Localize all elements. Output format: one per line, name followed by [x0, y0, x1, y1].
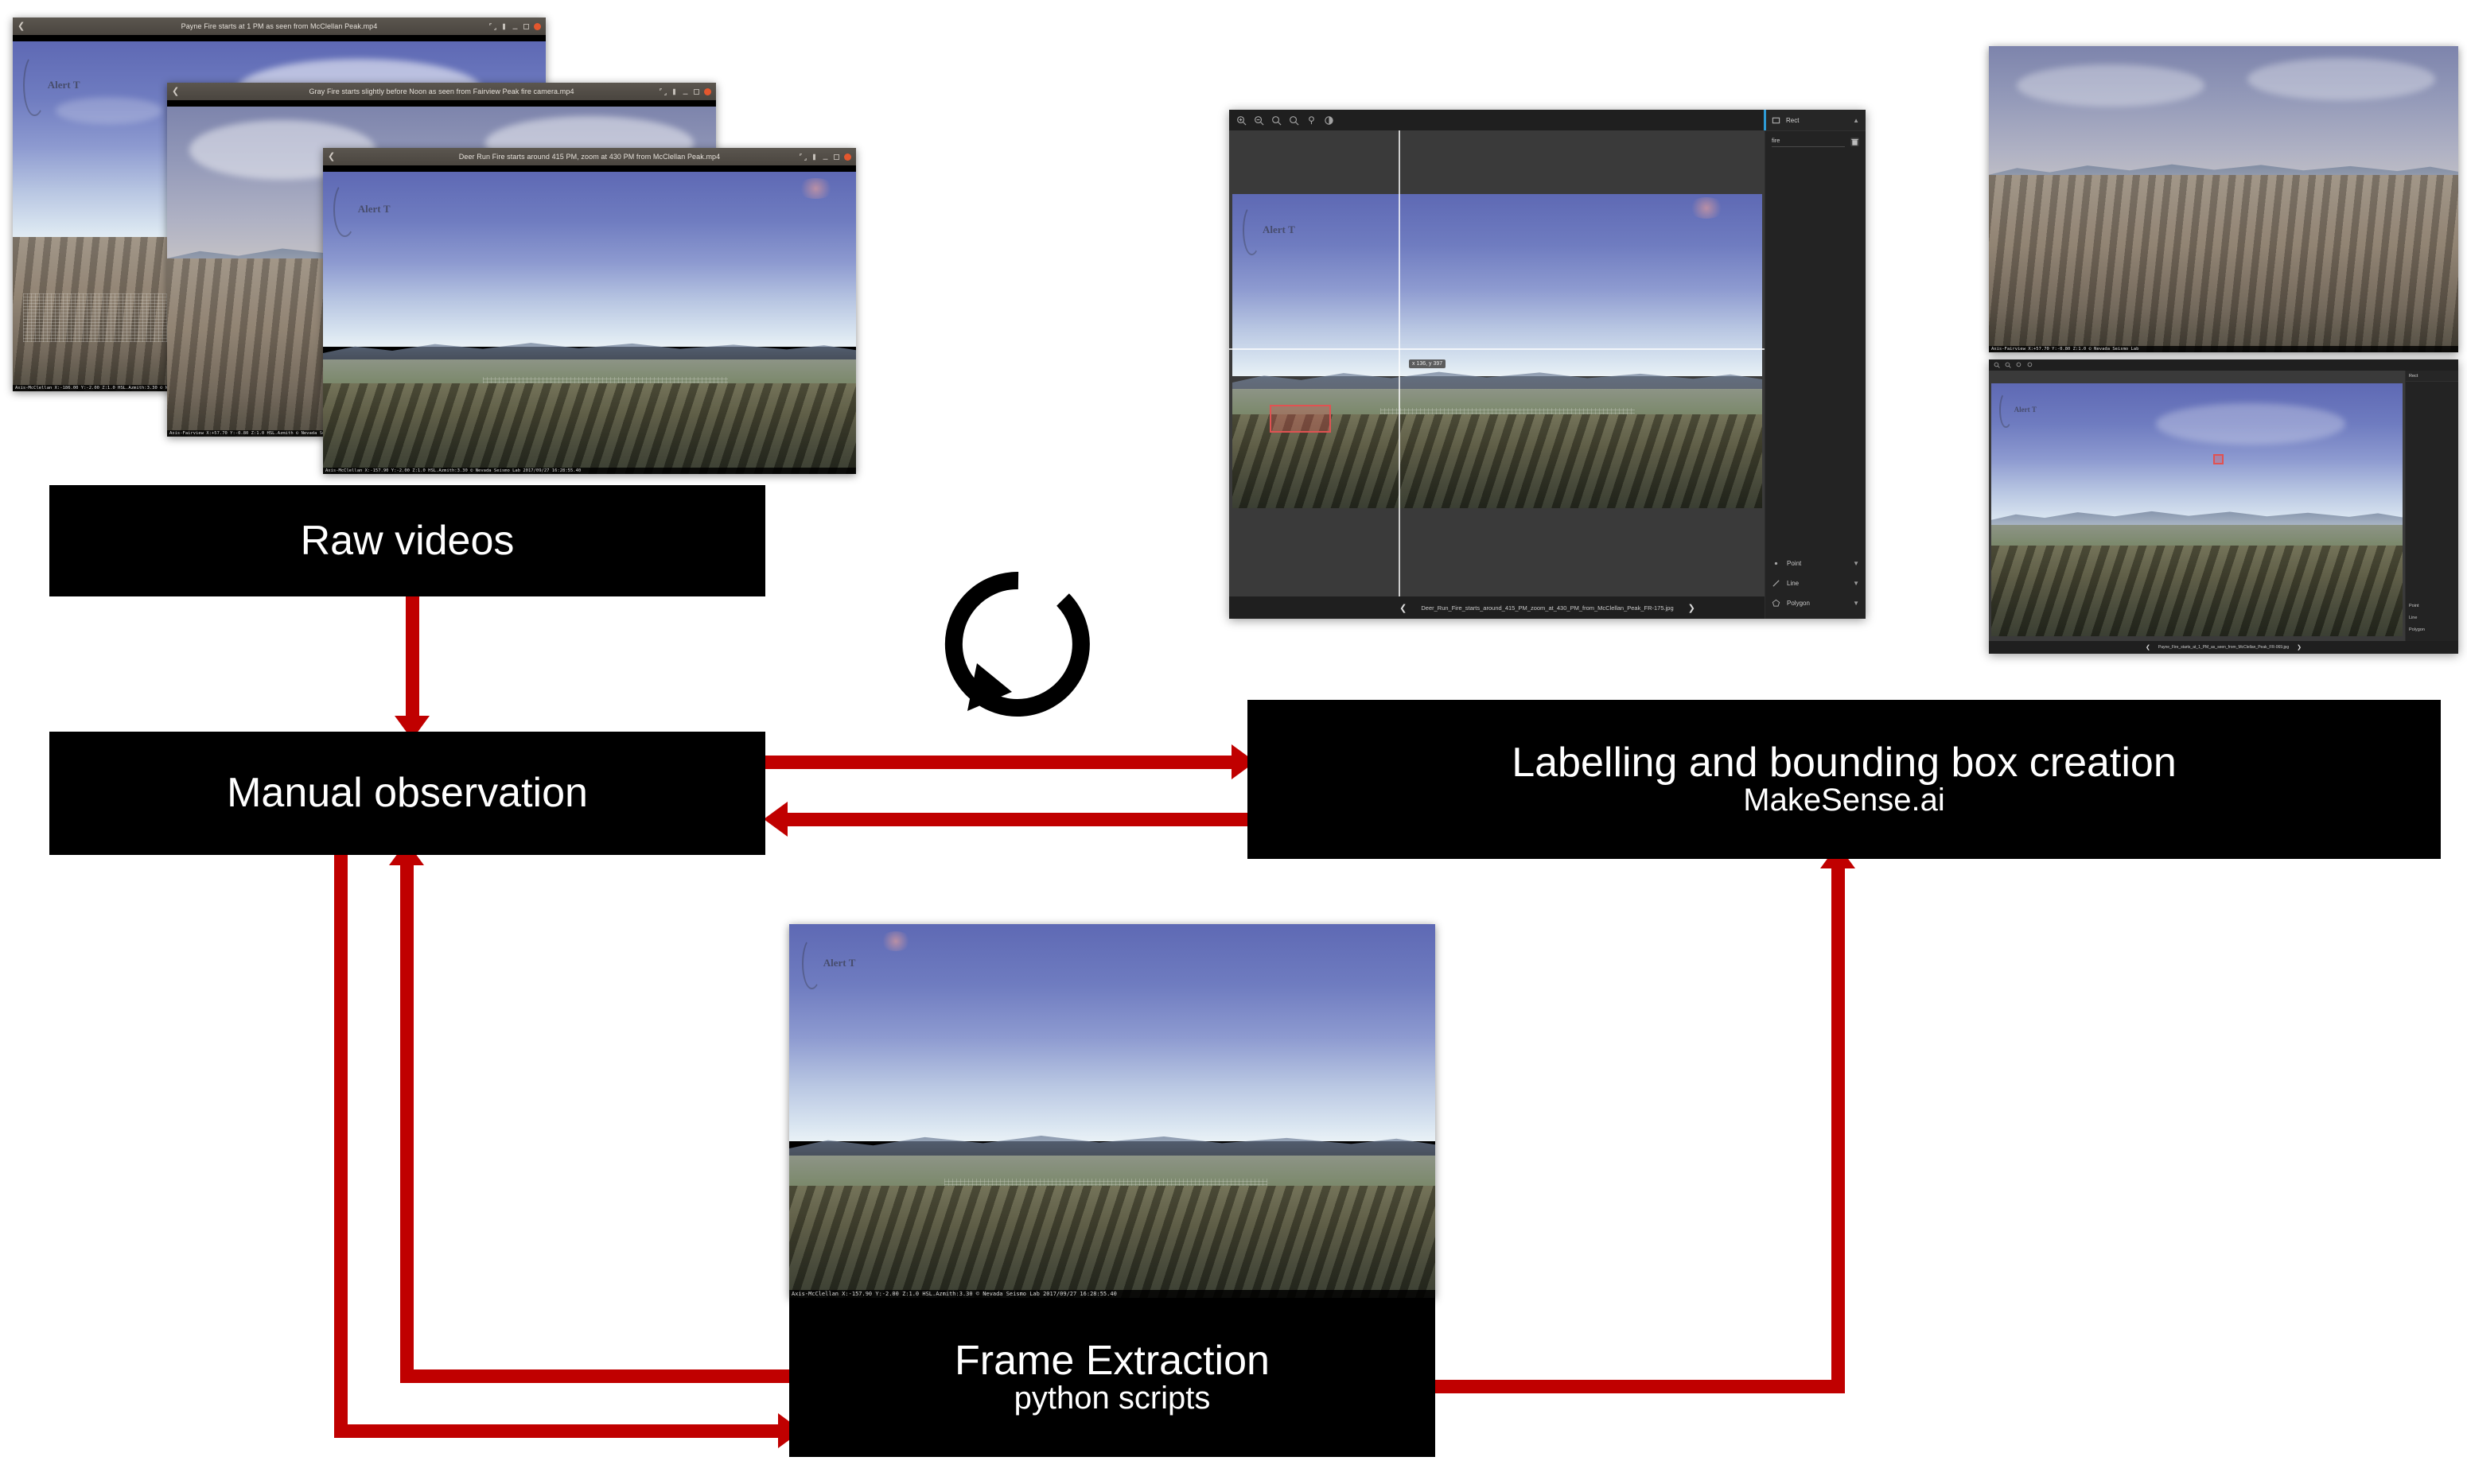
minimize-icon[interactable] — [682, 88, 689, 95]
scene-deer-run-frame: Alert T — [1232, 194, 1762, 508]
point-icon — [1772, 559, 1780, 568]
arrow-label-to-manual-head — [764, 802, 788, 837]
tool-row-point[interactable]: Point ▼ — [1765, 555, 1866, 571]
video-window-titlebar[interactable]: ❮ Payne Fire starts at 1 PM as seen from… — [13, 17, 546, 35]
video-window-titlebar[interactable]: ❮ Deer Run Fire starts around 415 PM, zo… — [323, 148, 856, 165]
makesense-app-window[interactable]: Alert T Axis-McClellan X:-157.90 Y:-2.00… — [1229, 110, 1866, 619]
alert-tahoe-logo: Alert T — [802, 939, 918, 988]
alert-tahoe-logo: Alert T — [1999, 394, 2069, 426]
block-label-primary: Labelling and bounding box creation — [1512, 741, 2177, 784]
arrow-manual-to-label-shaft — [764, 756, 1241, 769]
menu-icon[interactable] — [500, 23, 508, 30]
chevron-left-icon[interactable]: ❮ — [2146, 644, 2150, 651]
fullscreen-icon[interactable] — [660, 88, 667, 95]
window-letterbox — [323, 165, 856, 172]
minimize-icon[interactable] — [822, 153, 829, 161]
minimize-icon[interactable] — [512, 23, 519, 30]
label-row[interactable]: fire — [1765, 131, 1866, 150]
menu-icon[interactable] — [811, 153, 818, 161]
image-settings-icon[interactable] — [1306, 115, 1317, 126]
bounding-box-marker[interactable] — [2213, 454, 2224, 464]
maximize-icon[interactable] — [523, 23, 530, 30]
block-raw-videos[interactable]: Raw videos — [49, 485, 765, 596]
crosshair-vertical — [1399, 130, 1400, 596]
chevron-down-icon[interactable]: ▼ — [1853, 560, 1859, 567]
zoom-in-icon[interactable] — [1994, 362, 2000, 368]
zoom-fit-icon[interactable] — [2016, 362, 2022, 368]
window-controls[interactable] — [489, 23, 541, 30]
tool-row-polygon[interactable]: Polygon ▼ — [1765, 595, 1866, 611]
chevron-right-icon[interactable]: ❯ — [1688, 603, 1695, 613]
bounding-box-fire[interactable] — [1270, 405, 1331, 433]
panel-section-title: Rect — [1786, 117, 1799, 124]
arrow-frame-to-label-horz — [1435, 1380, 1845, 1393]
zoom-in-icon[interactable] — [1236, 115, 1247, 126]
tool-label: Point — [2409, 604, 2419, 608]
video-canvas: Alert T Axis-McClellan X:-157.90 Y:-2.00… — [323, 172, 856, 474]
tool-label: Line — [2409, 616, 2417, 620]
arrow-frame-to-manual-horz — [400, 1369, 790, 1383]
makesense-toolbar[interactable] — [1989, 359, 2458, 371]
cursor-coordinates-tooltip: x 136, y 397 — [1409, 359, 1446, 368]
camera-osd-text: Axis-McClellan X:-157.90 Y:-2.00 Z:1.0 H… — [323, 468, 856, 474]
scene-extracted-frame: Alert T — [789, 924, 1435, 1298]
frame-extraction-image: Alert T Axis-McClellan X:-157.90 Y:-2.00… — [789, 924, 1435, 1298]
block-label-primary: Frame Extraction — [955, 1339, 1270, 1382]
bounding-box-marker[interactable] — [2360, 114, 2368, 122]
zoom-reset-icon[interactable] — [2027, 362, 2033, 368]
block-label: Raw videos — [301, 519, 515, 562]
tool-row-line[interactable]: Line ▼ — [1765, 575, 1866, 591]
scene-payne-frame: Alert T — [1991, 383, 2403, 636]
chevron-left-icon[interactable]: ❮ — [18, 22, 29, 31]
video-canvas: Alert T Axis-McClellan X:-157.90 Y:-2.00… — [789, 924, 1435, 1298]
arrow-label-to-manual-shaft — [788, 813, 1249, 826]
zoom-out-icon[interactable] — [2005, 362, 2011, 368]
panel-section-title: Rect — [2409, 374, 2418, 379]
block-label: Manual observation — [227, 771, 588, 814]
chevron-left-icon[interactable]: ❮ — [328, 153, 339, 161]
tool-label: Polygon — [1787, 600, 1810, 607]
maximize-icon[interactable] — [833, 153, 840, 161]
chevron-down-icon[interactable]: ▼ — [1853, 600, 1859, 607]
contrast-icon[interactable] — [1324, 115, 1334, 126]
arrow-manual-to-frame-horz — [334, 1424, 788, 1438]
workflow-diagram: ❮ Payne Fire starts at 1 PM as seen from… — [0, 0, 2467, 1484]
block-manual-observation[interactable]: Manual observation — [49, 732, 765, 855]
chevron-up-icon[interactable]: ▲ — [1853, 117, 1859, 124]
panel-section-header-rect[interactable]: Rect ▲ — [1765, 110, 1866, 131]
image-navigation-bar[interactable]: ❮ Payne_Fire_starts_at_1_PM_as_seen_from… — [1989, 641, 2458, 654]
chevron-left-icon[interactable]: ❮ — [172, 87, 183, 96]
image-osd-text: Axis-McClellan X:-157.90 Y:-2.00 Z:1.0 H… — [789, 1290, 1435, 1298]
tool-label: Line — [1787, 580, 1799, 587]
arrow-manual-to-frame-vert — [334, 855, 348, 1438]
chevron-down-icon[interactable]: ▼ — [1853, 580, 1859, 587]
current-filename: Deer_Run_Fire_starts_around_415_PM_zoom_… — [1421, 604, 1673, 612]
makesense-canvas[interactable]: Alert T Axis-McClellan X:-186.00 Y:-2.00… — [1989, 371, 2458, 641]
makesense-thumbnail-top[interactable]: Axis-Fairview X:+57.70 Y:-0.80 Z:1.0 © N… — [1989, 46, 2458, 352]
scene-fairview-frame — [1989, 46, 2458, 352]
block-label-secondary: MakeSense.ai — [1743, 784, 1944, 818]
close-icon[interactable] — [844, 153, 851, 161]
fullscreen-icon[interactable] — [489, 23, 496, 30]
tool-row-polygon[interactable]: Polygon — [2406, 624, 2458, 635]
annotated-image[interactable]: Alert T Axis-McClellan X:-186.00 Y:-2.00… — [1991, 383, 2403, 636]
window-letterbox — [167, 100, 716, 107]
close-icon[interactable] — [704, 88, 711, 95]
chevron-right-icon[interactable]: ❯ — [2297, 644, 2302, 651]
makesense-side-panel[interactable]: Rect Point Line Polygon — [2405, 371, 2458, 641]
alert-tahoe-logo: Alert T — [333, 184, 472, 235]
circular-arrow-icon — [939, 565, 1098, 724]
tool-row-point[interactable]: Point — [2406, 600, 2458, 611]
alert-tahoe-logo: Alert T — [23, 56, 161, 115]
panel-section-header-rect[interactable]: Rect — [2406, 371, 2458, 382]
block-frame-extraction[interactable]: Frame Extraction python scripts — [789, 1298, 1435, 1457]
image-osd-text: Axis-Fairview X:+57.70 Y:-0.80 Z:1.0 © N… — [1989, 346, 2458, 352]
polygon-icon — [1772, 599, 1780, 608]
zoom-reset-icon[interactable] — [1289, 115, 1299, 126]
video-window-titlebar[interactable]: ❮ Gray Fire starts slightly before Noon … — [167, 83, 716, 100]
label-value[interactable]: fire — [1772, 137, 1845, 147]
rect-icon — [1772, 116, 1780, 125]
arrow-raw-to-manual-shaft — [406, 596, 419, 720]
fullscreen-icon[interactable] — [800, 153, 807, 161]
video-window-title: Deer Run Fire starts around 415 PM, zoom… — [323, 153, 856, 161]
menu-icon[interactable] — [671, 88, 678, 95]
current-filename: Payne_Fire_starts_at_1_PM_as_seen_from_M… — [2158, 645, 2289, 650]
video-canvas: Axis-Fairview X:+57.70 Y:-0.80 Z:1.0 © N… — [1989, 46, 2458, 352]
tool-row-line[interactable]: Line — [2406, 612, 2458, 623]
zoom-fit-icon[interactable] — [1271, 115, 1282, 126]
close-icon[interactable] — [534, 23, 541, 30]
chevron-left-icon[interactable]: ❮ — [1399, 603, 1407, 613]
block-label-secondary: python scripts — [1014, 1382, 1211, 1416]
makesense-thumbnail-bottom[interactable]: Alert T Axis-McClellan X:-186.00 Y:-2.00… — [1989, 359, 2458, 654]
video-window-deer-run-fire[interactable]: ❮ Deer Run Fire starts around 415 PM, zo… — [323, 148, 856, 474]
zoom-out-icon[interactable] — [1254, 115, 1264, 126]
annotated-image[interactable]: Alert T Axis-McClellan X:-157.90 Y:-2.00… — [1232, 194, 1762, 508]
scene-deer-run-fire: Alert T — [323, 172, 856, 474]
active-tab-indicator — [1764, 110, 1766, 130]
tool-label: Point — [1787, 560, 1801, 567]
makesense-side-panel[interactable]: Rect ▲ fire Point ▼ Line ▼ Polygon ▼ — [1765, 110, 1866, 619]
window-controls[interactable] — [800, 153, 851, 161]
maximize-icon[interactable] — [693, 88, 700, 95]
line-icon — [1772, 579, 1780, 588]
arrow-frame-to-manual-vert — [400, 863, 414, 1380]
trash-icon[interactable] — [1850, 138, 1859, 146]
window-letterbox — [13, 35, 546, 41]
alert-tahoe-logo: Alert T — [1243, 207, 1348, 254]
block-labelling[interactable]: Labelling and bounding box creation Make… — [1247, 700, 2441, 859]
video-window-title: Payne Fire starts at 1 PM as seen from M… — [13, 22, 546, 30]
tool-label: Polygon — [2409, 627, 2425, 632]
video-window-title: Gray Fire starts slightly before Noon as… — [167, 87, 716, 95]
arrow-frame-to-label-vert — [1831, 867, 1845, 1392]
window-controls[interactable] — [660, 88, 711, 95]
